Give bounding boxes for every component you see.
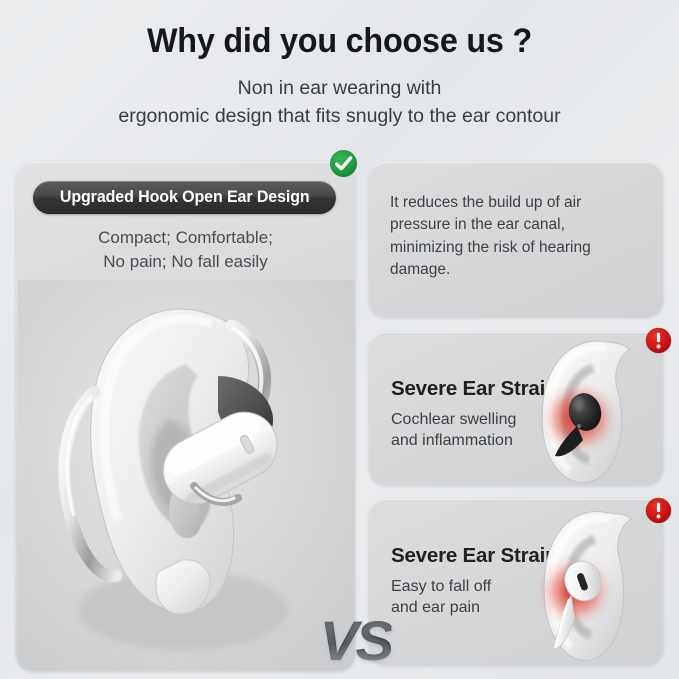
ear-with-black-bud-illustration bbox=[511, 332, 661, 485]
hero-badge-label: Upgraded Hook Open Ear Design bbox=[60, 188, 310, 207]
panel-drawback-cochlear: Severe Ear Strain Cochlear swelling and … bbox=[369, 332, 663, 485]
hero-badge: Upgraded Hook Open Ear Design bbox=[33, 181, 336, 214]
benefit-detail-line-1: It reduces the build up of air bbox=[390, 192, 630, 214]
subtitle-line-1: Non in ear wearing with bbox=[0, 75, 679, 103]
alert-circle-icon-cochlear bbox=[645, 327, 672, 354]
benefit-detail-body: It reduces the build up of air pressure … bbox=[390, 192, 630, 281]
page-subtitle: Non in ear wearing with ergonomic design… bbox=[0, 75, 679, 130]
versus-mark: VS bbox=[320, 613, 391, 669]
hero-panel: Upgraded Hook Open Ear Design Compact; C… bbox=[16, 162, 355, 671]
check-circle-icon bbox=[329, 149, 358, 178]
panel-drawback-fall-off: Severe Ear Strain Easy to fall off and e… bbox=[369, 499, 663, 665]
comparison-stage: Upgraded Hook Open Ear Design Compact; C… bbox=[0, 156, 679, 679]
ear-with-stem-earbud-illustration bbox=[511, 499, 661, 665]
panel-benefit-detail: It reduces the build up of air pressure … bbox=[369, 162, 663, 317]
hero-benefit-line-1: Compact; Comfortable; bbox=[16, 226, 355, 250]
page-title: Why did you choose us ? bbox=[17, 22, 662, 61]
header: Why did you choose us ? Non in ear weari… bbox=[0, 0, 679, 130]
benefit-detail-line-2: pressure in the ear canal, bbox=[390, 214, 630, 236]
subtitle-line-2: ergonomic design that fits snugly to the… bbox=[0, 103, 679, 131]
hero-benefit-line-2: No pain; No fall easily bbox=[16, 250, 355, 274]
alert-circle-icon-falloff bbox=[645, 497, 672, 524]
hero-product-illustration bbox=[18, 280, 355, 670]
hero-benefits: Compact; Comfortable; No pain; No fall e… bbox=[16, 226, 355, 274]
benefit-detail-line-4: damage. bbox=[390, 259, 630, 281]
benefit-detail-line-3: minimizing the risk of hearing bbox=[390, 237, 630, 259]
